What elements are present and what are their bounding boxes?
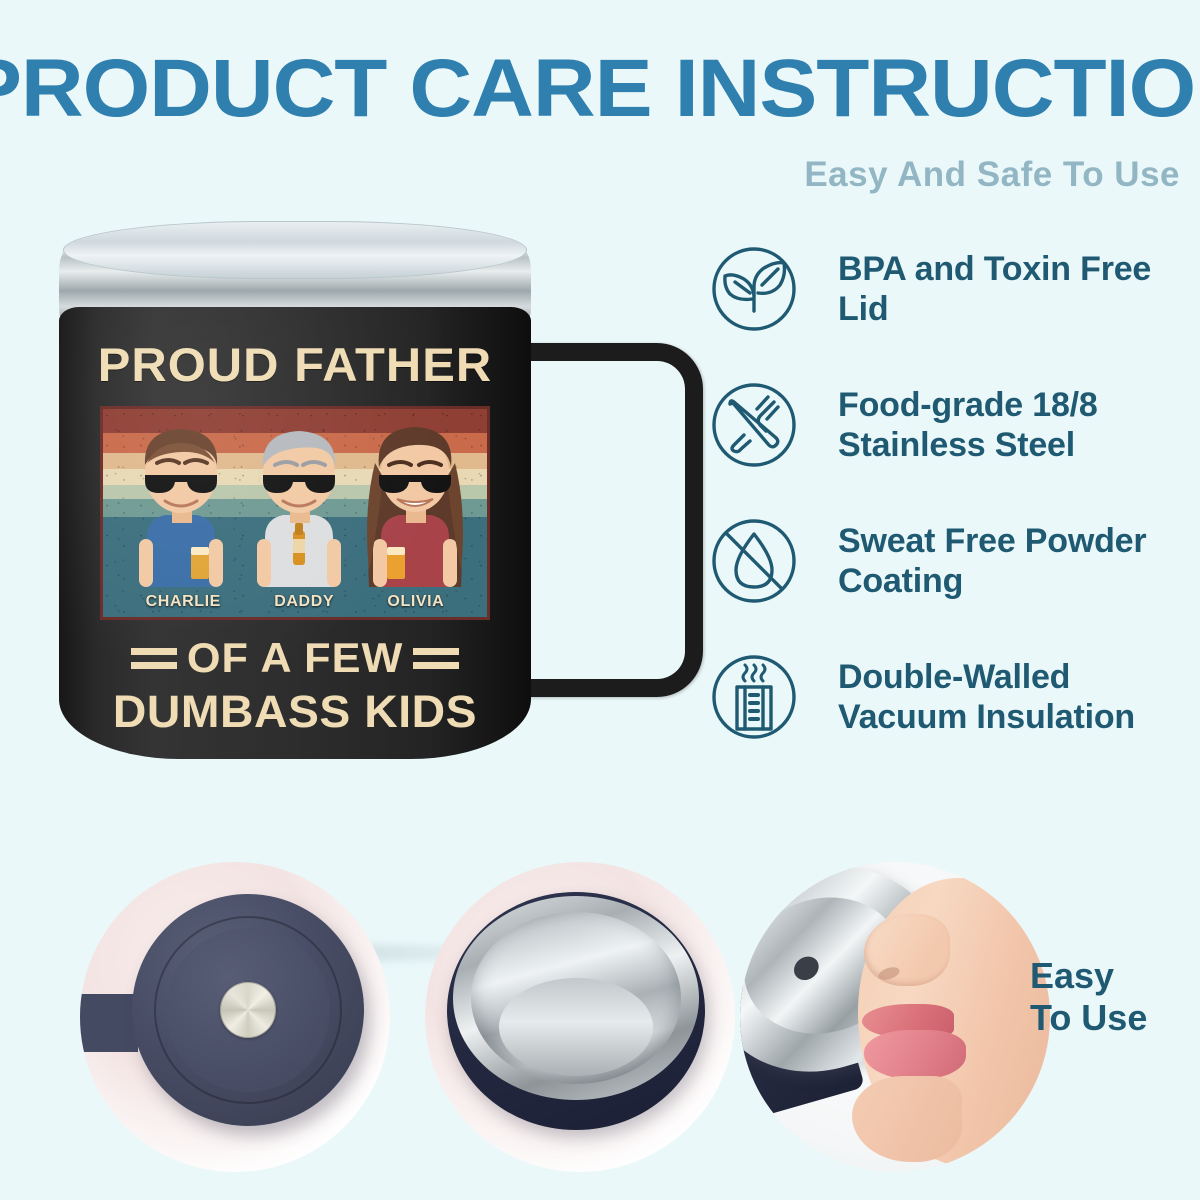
mug-steel-interior	[471, 912, 681, 1084]
insulation-icon	[700, 643, 808, 751]
mug-clear-lid	[63, 221, 527, 279]
artwork-poster: CHARLIE DADDY OLIVIA	[100, 406, 490, 620]
person-face-profile	[858, 878, 1050, 1168]
feature-item-sweat-free: Sweat Free Powder Coating	[700, 507, 1190, 615]
character-group	[103, 419, 487, 587]
gallery-photo-interior	[425, 862, 735, 1172]
product-photo-gallery	[0, 850, 1200, 1200]
poster-grain-texture	[103, 409, 487, 617]
product-mug-illustration: PROUD FATHER	[45, 215, 705, 795]
lid-handle-tab	[80, 994, 138, 1052]
lid-disc	[132, 894, 364, 1126]
mug-body: PROUD FATHER	[59, 307, 531, 759]
character-name: CHARLIE	[146, 593, 221, 611]
retro-stripes	[103, 409, 487, 617]
artwork-line-mid: OF A FEW	[187, 634, 403, 682]
nostril	[877, 965, 901, 982]
lower-lip	[864, 1030, 966, 1080]
mug-interior-floor	[499, 978, 653, 1076]
cutlery-icon	[700, 371, 808, 479]
artwork-line-top: PROUD FATHER	[70, 337, 519, 392]
page-title: PRODUCT CARE INSTRUCTIONS	[0, 42, 1200, 136]
artwork-line-mid-row: OF A FEW	[79, 634, 511, 682]
feature-item-stainless-steel: Food-grade 18/8 Stainless Steel	[700, 371, 1190, 479]
character-name-row: CHARLIE DADDY OLIVIA	[103, 593, 487, 611]
caption-line-2: To Use	[1030, 997, 1190, 1039]
no-water-icon	[700, 507, 808, 615]
artwork-line-bottom: DUMBASS KIDS	[73, 686, 518, 738]
features-subtitle: Easy And Safe To Use	[700, 155, 1190, 195]
mug-artwork: PROUD FATHER	[79, 337, 511, 738]
gallery-photo-lid-top	[80, 862, 390, 1172]
feature-label: BPA and Toxin Free Lid	[838, 249, 1190, 329]
features-panel: Easy And Safe To Use BPA and Toxin Free …	[700, 155, 1190, 779]
dash-left	[131, 648, 177, 669]
lid-metal-knob	[220, 982, 276, 1038]
character-name: OLIVIA	[387, 593, 444, 611]
feature-item-bpa-free: BPA and Toxin Free Lid	[700, 235, 1190, 343]
dash-right	[413, 648, 459, 669]
feature-label: Double-Walled Vacuum Insulation	[838, 657, 1190, 737]
character-olivia	[351, 419, 479, 587]
character-charlie	[117, 419, 245, 587]
feature-list: BPA and Toxin Free Lid Food-grade 18/8 S…	[700, 235, 1190, 751]
gallery-caption-easy-to-use: Easy To Use	[1030, 955, 1190, 1040]
leaf-icon	[700, 235, 808, 343]
character-name: DADDY	[274, 593, 334, 611]
feature-label: Sweat Free Powder Coating	[838, 521, 1190, 601]
mug-steel-rim	[453, 896, 699, 1100]
feature-label: Food-grade 18/8 Stainless Steel	[838, 385, 1190, 465]
mug-exterior-shell	[447, 892, 705, 1130]
feature-item-vacuum-insulation: Double-Walled Vacuum Insulation	[700, 643, 1190, 751]
gallery-photo-drinking	[740, 862, 1050, 1172]
caption-line-1: Easy	[1030, 955, 1190, 997]
character-daddy	[235, 419, 363, 587]
nose	[864, 914, 950, 986]
